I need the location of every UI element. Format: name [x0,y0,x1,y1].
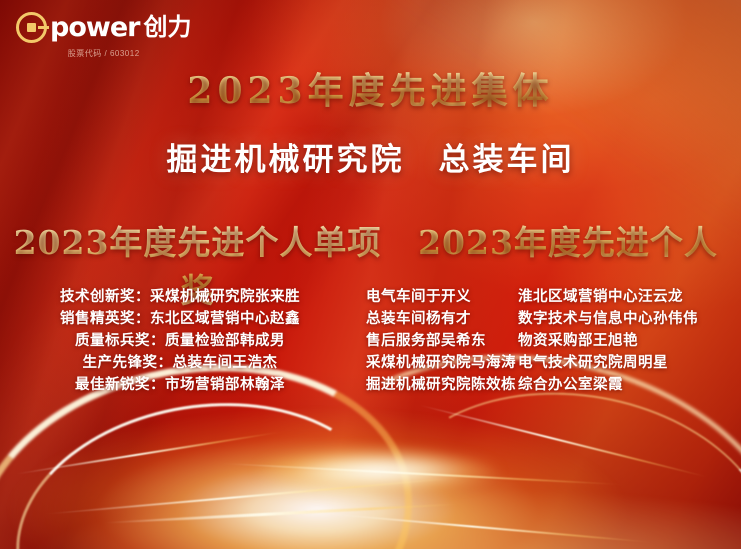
company-logo: power 创力 股票代码 / 603012 [16,12,191,59]
poster-content: 2023年度先进集体 掘进机械研究院 总装车间 2023年度先进个人单项奖 20… [0,0,741,549]
person-name: 售后服务部吴希东 [366,330,518,352]
table-row: 售后服务部吴希东 物资采购部王旭艳 [366,330,741,352]
logo-wordmark: power [50,14,139,41]
list-item: 技术创新奖：采煤机械研究院张来胜 [0,286,360,308]
list-item: 销售精英奖：东北区域营销中心赵鑫 [0,308,360,330]
table-row: 总装车间杨有才 数字技术与信息中心孙伟伟 [366,308,741,330]
logo-wordmark-cn: 创力 [143,16,191,40]
table-row: 采煤机械研究院马海涛 电气技术研究院周明星 [366,352,741,374]
winner-columns: 技术创新奖：采煤机械研究院张来胜 销售精英奖：东北区域营销中心赵鑫 质量标兵奖：… [0,286,741,396]
person-name: 电气技术研究院周明星 [518,352,741,374]
person-name: 电气车间于开义 [366,286,518,308]
c-power-inner-square-icon [27,23,36,32]
single-award-list: 技术创新奖：采煤机械研究院张来胜 销售精英奖：东北区域营销中心赵鑫 质量标兵奖：… [0,286,360,396]
person-name: 采煤机械研究院马海涛 [366,352,518,374]
person-name: 淮北区域营销中心汪云龙 [518,286,741,308]
list-item: 最佳新锐奖：市场营销部林翰泽 [0,374,360,396]
award-poster: power 创力 股票代码 / 603012 2023年度先进集体 掘进机械研究… [0,0,741,549]
c-power-circle-icon [16,12,47,43]
person-name: 物资采购部王旭艳 [518,330,741,352]
person-name: 数字技术与信息中心孙伟伟 [518,308,741,330]
person-name: 总装车间杨有才 [366,308,518,330]
page-title: 2023年度先进集体 [0,62,741,114]
stock-code-label: 股票代码 / 603012 [16,48,191,59]
logo-row: power 创力 [16,12,191,43]
list-item: 质量标兵奖：质量检验部韩成男 [0,330,360,352]
person-name: 掘进机械研究院陈效栋 [366,374,518,396]
person-name: 综合办公室梁霞 [518,374,741,396]
list-item: 生产先锋奖：总装车间王浩杰 [0,352,360,374]
advanced-individual-list: 电气车间于开义 淮北区域营销中心汪云龙 总装车间杨有才 数字技术与信息中心孙伟伟… [360,286,741,396]
heading-advanced-individual: 2023年度先进个人 [395,216,741,264]
table-row: 掘进机械研究院陈效栋 综合办公室梁霞 [366,374,741,396]
collective-winners: 掘进机械研究院 总装车间 [0,134,741,179]
table-row: 电气车间于开义 淮北区域营销中心汪云龙 [366,286,741,308]
